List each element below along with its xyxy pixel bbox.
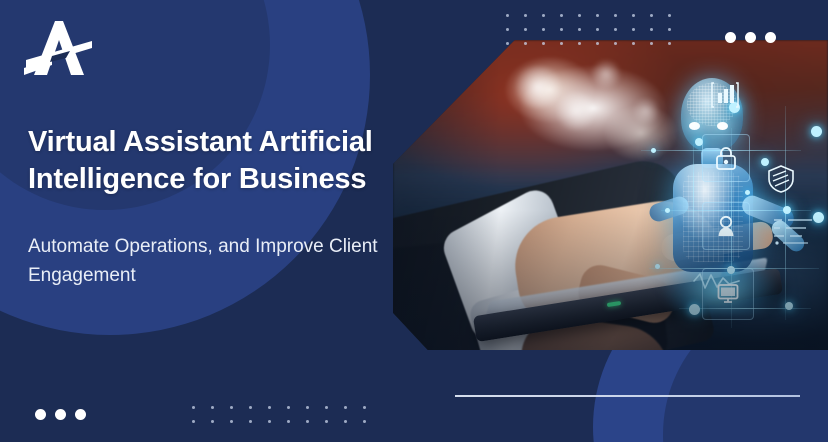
photo-vignette	[393, 40, 828, 350]
hero-photo-inner	[393, 40, 828, 350]
three-dots-bottom-left	[35, 409, 86, 420]
dot-icon	[75, 409, 86, 420]
brand-logo[interactable]	[22, 18, 94, 80]
dot-icon	[35, 409, 46, 420]
horizontal-rule-bottom-right	[455, 395, 800, 397]
dot-grid-top-right	[498, 8, 678, 50]
dot-icon	[55, 409, 66, 420]
hero-photo	[393, 40, 828, 350]
dot-icon	[765, 32, 776, 43]
dot-icon	[745, 32, 756, 43]
banner-root: Virtual Assistant Artificial Intelligenc…	[0, 0, 828, 442]
dot-grid-bottom-left	[184, 400, 374, 428]
page-title: Virtual Assistant Artificial Intelligenc…	[28, 124, 420, 198]
three-dots-top-right	[725, 32, 776, 43]
page-subtitle: Automate Operations, and Improve Client …	[28, 232, 408, 291]
dot-icon	[725, 32, 736, 43]
letter-a-swoosh-logo-icon	[22, 18, 94, 80]
